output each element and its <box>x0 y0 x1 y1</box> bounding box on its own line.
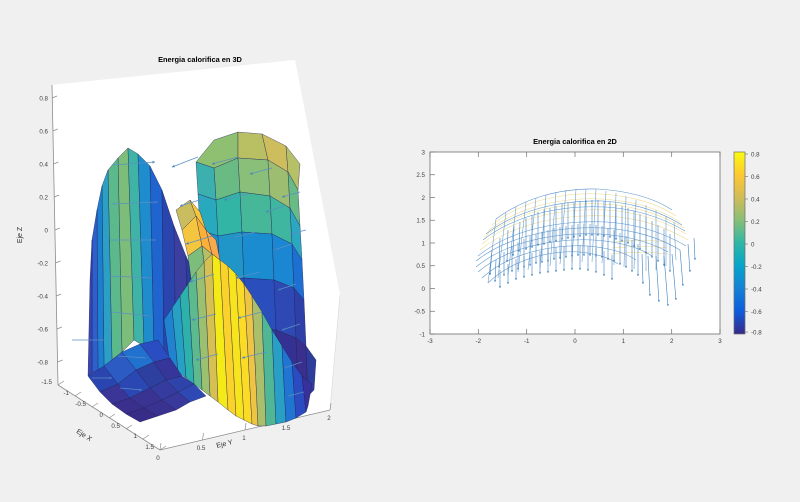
plot-2d-title: Energia calorifica en 2D <box>533 137 617 146</box>
z-tick-label: 0.2 <box>39 195 48 202</box>
y2d-tick-label: 3 <box>422 149 426 156</box>
x2d-tick-label: 0 <box>573 338 577 345</box>
x-tick-label: 0 <box>100 412 104 419</box>
x-tick-label: 1 <box>134 433 138 440</box>
z-tick-label: 0.8 <box>39 96 48 103</box>
y-tick-label: 1 <box>242 435 246 442</box>
colorbar-tick-label: -0.4 <box>751 286 762 293</box>
y-tick-label: 2 <box>327 415 331 422</box>
y2d-tick-label: 1.5 <box>416 218 425 225</box>
x-tick-label: 1.5 <box>145 444 154 451</box>
x2d-tick-label: 2 <box>670 338 674 345</box>
colorbar-tick-label: -0.2 <box>751 264 762 271</box>
x-tick-label: -1.5 <box>41 379 52 386</box>
x2d-tick-label: -2 <box>476 338 482 345</box>
z-axis-label: Eje Z <box>17 226 24 243</box>
z-tick-label: -0.6 <box>37 327 48 334</box>
colorbar-tick-label: 0.6 <box>751 174 760 181</box>
y2d-tick-label: -0.5 <box>414 309 425 316</box>
z-tick-label: -0.4 <box>37 294 48 301</box>
plot-2d-frame <box>430 152 720 334</box>
y2d-tick-label: 2.5 <box>416 172 425 179</box>
x2d-tick-label: 1 <box>622 338 626 345</box>
y-tick-label: 0.5 <box>197 445 206 452</box>
x-axis-label: Eje X <box>75 428 93 443</box>
z-tick-label: 0.6 <box>39 129 48 136</box>
z-tick-label: -0.2 <box>37 261 48 268</box>
y-axis-label: Eje Y <box>216 439 234 450</box>
x2d-tick-label: -3 <box>427 338 433 345</box>
surface-3d <box>88 132 316 426</box>
y2d-tick-label: 1 <box>422 240 426 247</box>
colorbar-tick-label: 0 <box>751 241 755 248</box>
colorbar-tick-label: 0.2 <box>751 219 760 226</box>
y2d-tick-label: 2 <box>422 195 426 202</box>
y-tick-label: 1.5 <box>282 425 291 432</box>
z-tick-label: -0.8 <box>37 360 48 367</box>
matlab-figure: 0.8 0.6 0.4 0.2 0 -0.2 -0.4 -0.6 -0.8 <box>0 0 800 502</box>
x-tick-label: -0.5 <box>75 401 86 408</box>
plot-3d-title: Energia calorifica en 3D <box>158 55 242 64</box>
plot-2d-axes: -3 -2 -1 0 1 2 3 <box>400 130 800 370</box>
z-tick-label: 0 <box>45 228 49 235</box>
colorbar-tick-label: 0.8 <box>751 151 760 158</box>
y-tick-label: 0 <box>156 455 160 462</box>
x-tick-label: -1 <box>63 390 69 397</box>
plot-3d-axes: 0.8 0.6 0.4 0.2 0 -0.2 -0.4 -0.6 -0.8 <box>0 40 400 480</box>
colorbar-tick-label: -0.6 <box>751 309 762 316</box>
y2d-tick-label: 0.5 <box>416 263 425 270</box>
y2d-tick-label: 0 <box>422 286 426 293</box>
x2d-tick-label: -1 <box>524 338 530 345</box>
y2d-tick-label: -1 <box>419 331 425 338</box>
colorbar-tick-group: 0.8 0.6 0.4 0.2 0 -0.2 -0.4 -0.6 <box>745 151 762 336</box>
colorbar-tick-label: -0.8 <box>751 329 762 336</box>
colorbar-tick-label: 0.4 <box>751 196 760 203</box>
x2d-tick-label: 3 <box>718 338 722 345</box>
z-tick-label: 0.4 <box>39 162 48 169</box>
x-tick-label: 0.5 <box>111 423 120 430</box>
colorbar[interactable]: 0.8 0.6 0.4 0.2 0 -0.2 -0.4 -0.6 <box>734 151 762 336</box>
colorbar-gradient <box>734 152 745 334</box>
